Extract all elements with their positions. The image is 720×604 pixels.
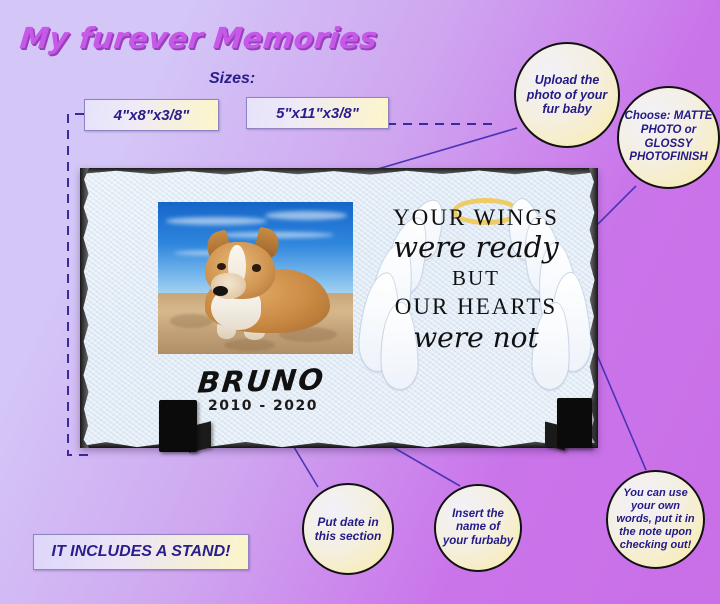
callout-choose-finish[interactable]: Choose: MATTE PHOTO or GLOSSY PHOTOFINIS… <box>617 86 720 189</box>
cloud <box>166 217 267 225</box>
poster-canvas: My furever Memories Sizes: 4"x8"x3/8" 5"… <box>0 0 720 604</box>
sand-texture <box>170 314 213 328</box>
callout-put-date[interactable]: Put date in this section <box>302 483 394 575</box>
page-title: My furever Memories <box>18 21 379 55</box>
slate-face: BRUNO 2010 - 2020 <box>80 168 598 448</box>
callout-upload-photo[interactable]: Upload the photo of your fur baby <box>514 42 620 148</box>
quote-line-1: YOUR WINGS <box>352 206 600 229</box>
quote-line-4: OUR HEARTS <box>352 294 600 320</box>
quote-line-2: were ready <box>352 231 600 263</box>
pet-name[interactable]: BRUNO <box>196 362 327 399</box>
callout-own-words[interactable]: You can use your own words, put it in th… <box>606 470 705 569</box>
pet-photo[interactable] <box>158 202 353 354</box>
size-option-small[interactable]: 4"x8"x3/8" <box>84 99 219 131</box>
includes-stand-note: IT INCLUDES A STAND! <box>33 534 249 570</box>
memorial-quote[interactable]: YOUR WINGS were ready BUT OUR HEARTS wer… <box>352 206 600 354</box>
slate-plaque: BRUNO 2010 - 2020 <box>80 168 598 448</box>
easel-stand-icon <box>159 400 197 452</box>
quote-line-5: were not <box>352 321 600 354</box>
pet-dates[interactable]: 2010 - 2020 <box>208 398 318 414</box>
callout-insert-name[interactable]: Insert the name of your furbaby <box>434 484 522 572</box>
quote-line-3: BUT <box>352 266 600 291</box>
sand-texture <box>224 339 275 351</box>
easel-stand-icon <box>557 398 592 448</box>
dog-eye <box>252 264 262 272</box>
sizes-label: Sizes: <box>209 70 255 88</box>
size-option-large[interactable]: 5"x11"x3/8" <box>246 97 389 129</box>
